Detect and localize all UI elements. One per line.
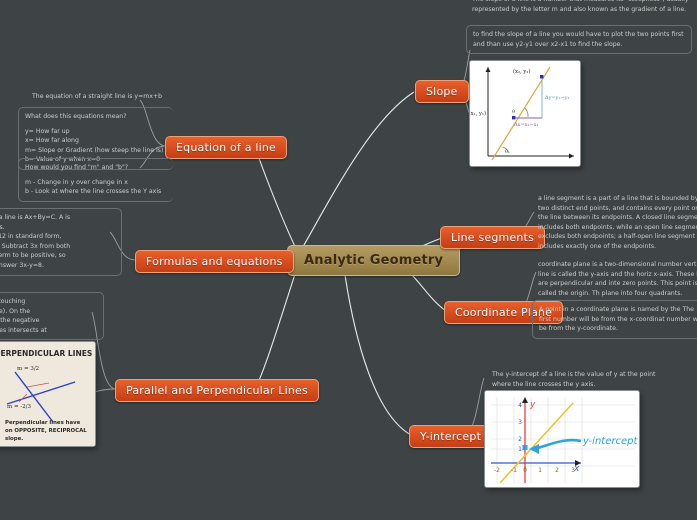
center-node-label: Analytic Geometry — [304, 253, 443, 268]
note-formulas-line-6: by -1 to get the answer 3x-y=8. — [0, 262, 44, 269]
note-slope-howto: to find the slope of a line you would ha… — [466, 25, 692, 54]
note-coordinate-plane-point-text: A point in a coordinate plane is named b… — [539, 305, 697, 334]
note-formulas: standard form of a line is Ax+By=C. A is… — [0, 208, 122, 276]
topic-node-slope[interactable]: Slope — [415, 80, 469, 103]
note-line-segments-text: a line segment is a part of a line that … — [538, 194, 697, 252]
y-intercept-graph-annotation: y-intercept — [582, 436, 638, 447]
slope-diagram-angle-label-lower: θ — [505, 149, 508, 155]
note-coordinate-plane-point: A point in a coordinate plane is named b… — [532, 300, 697, 339]
note-parallel-line-3: ndicular lines are the negative — [0, 317, 39, 324]
note-slope-howto-text: to find the slope of a line you would ha… — [473, 30, 685, 49]
note-equation-meaning-question: What does this equations mean? — [25, 112, 167, 122]
note-equation-title: The equation of a straight line is y=mx+… — [26, 88, 172, 106]
topic-label-equation-of-a-line: Equation of a line — [176, 141, 276, 154]
perpendicular-lines-image: PERPENDICULAR LINES m = 3/2 m = -2/3 Per… — [0, 341, 96, 447]
note-equation-title-text: The equation of a straight line is y=mx+… — [32, 92, 166, 102]
note-formulas-line-5: . We need the x-term to be positive, so — [0, 252, 66, 259]
y-intercept-graph-ytick-4: 4 — [518, 402, 522, 409]
slope-diagram-point2-label: (x₂, y₂) — [513, 68, 530, 75]
note-equation-meaning-line-1: y= How far up — [25, 128, 70, 135]
note-slope-definition: The slope of a line is a number that mea… — [466, 0, 697, 18]
perpendicular-image-caption-line3: slope. — [5, 436, 23, 442]
note-coordinate-plane: coordinate plane is a two-dimensional nu… — [532, 256, 697, 302]
slope-diagram-point1-label: (x₁, y₁) — [470, 110, 486, 117]
y-intercept-graph-ytick-2: 2 — [518, 436, 522, 443]
note-y-intercept-text: The y-intercept of a line is the value o… — [492, 370, 672, 389]
y-intercept-graph-xtick--1: -1 — [511, 467, 517, 474]
topic-label-line-segments: Line segments — [451, 231, 534, 244]
slope-diagram-image: (x₂, y₂) (x₁, y₁) Δy=y₂−y₁ Δx=x₂−x₁ θ θ — [469, 60, 581, 167]
perpendicular-image-caption-line1: Perpendicular lines have — [5, 420, 81, 426]
note-equation-meaning-line-2: x= How far along — [25, 137, 79, 144]
note-equation-find-question: How would you find "m" and "b"? — [25, 163, 167, 173]
note-equation-find-line-2: b - Look at where the line crosses the Y… — [25, 188, 161, 195]
note-equation-find: How would you find "m" and "b"? m - Chan… — [18, 158, 173, 202]
y-intercept-graph-image: y x 4 3 2 1 -2 -1 0 1 2 3 y-intercept — [484, 390, 640, 488]
mindmap-canvas: Analytic Geometry Slope Equation of a li… — [0, 0, 697, 520]
note-parallel-perpendicular: , forever without touching on the same p… — [0, 292, 104, 340]
topic-node-equation-of-a-line[interactable]: Equation of a line — [165, 136, 287, 159]
topic-label-y-intercept: Y-intercept — [420, 430, 481, 443]
topic-node-y-intercept[interactable]: Y-intercept — [409, 425, 492, 448]
note-formulas-line-3: f the line: y=3x+12 in standard form, — [0, 233, 61, 240]
y-intercept-graph-ytick-3: 3 — [518, 419, 522, 426]
note-parallel-line-1: , forever without touching — [0, 298, 25, 305]
perpendicular-image-slope2: m = -2/3 — [7, 404, 32, 410]
note-line-segments: a line segment is a part of a line that … — [532, 190, 697, 256]
perpendicular-image-title: PERPENDICULAR LINES — [0, 349, 92, 358]
y-intercept-graph-xtick-2: 2 — [555, 467, 559, 474]
note-equation-find-line-1: m - Change in y over change in x — [25, 179, 128, 186]
note-formulas-line-1: standard form of a line is Ax+By=C. A is — [0, 214, 70, 221]
note-parallel-line-4: a pair of these lines intersects at — [0, 327, 47, 334]
y-intercept-graph-xtick-1: 1 — [538, 467, 542, 474]
topic-node-line-segments[interactable]: Line segments — [440, 226, 545, 249]
y-intercept-graph-xtick-3: 3 — [571, 467, 575, 474]
slope-diagram-angle-label-upper: θ — [512, 109, 515, 115]
note-slope-definition-text: The slope of a line is a number that mea… — [472, 0, 694, 14]
topic-node-parallel-and-perpendicular-lines[interactable]: Parallel and Perpendicular Lines — [115, 379, 319, 402]
perpendicular-image-caption-line2: on OPPOSITE, RECIPROCAL — [5, 428, 87, 434]
note-formulas-line-2: d B, C are integers. — [0, 224, 5, 231]
y-intercept-graph-xtick--2: -2 — [494, 467, 500, 474]
note-formulas-line-4: x-term to the left. Subtract 3x from bot… — [0, 243, 70, 250]
topic-label-slope: Slope — [426, 85, 458, 98]
note-equation-meaning-line-3: m= Slope or Gradient (how steep the line… — [25, 147, 163, 154]
slope-diagram-delta-x-label: Δx=x₂−x₁ — [514, 122, 538, 128]
perpendicular-image-slope1: m = 3/2 — [17, 366, 39, 372]
topic-node-formulas-and-equations[interactable]: Formulas and equations — [135, 250, 294, 273]
center-node-analytic-geometry[interactable]: Analytic Geometry — [287, 245, 460, 276]
note-parallel-line-2: on the same plane). On the — [0, 308, 30, 315]
y-intercept-graph-xtick-0: 0 — [523, 467, 527, 474]
topic-label-parallel-and-perpendicular-lines: Parallel and Perpendicular Lines — [126, 384, 308, 397]
topic-label-formulas-and-equations: Formulas and equations — [146, 255, 283, 268]
note-coordinate-plane-text: coordinate plane is a two-dimensional nu… — [538, 260, 697, 298]
slope-diagram-delta-y-label: Δy=y₂−y₁ — [545, 95, 569, 101]
y-intercept-graph-ytick-1: 1 — [518, 446, 522, 453]
y-intercept-graph-y-label: y — [529, 400, 536, 410]
